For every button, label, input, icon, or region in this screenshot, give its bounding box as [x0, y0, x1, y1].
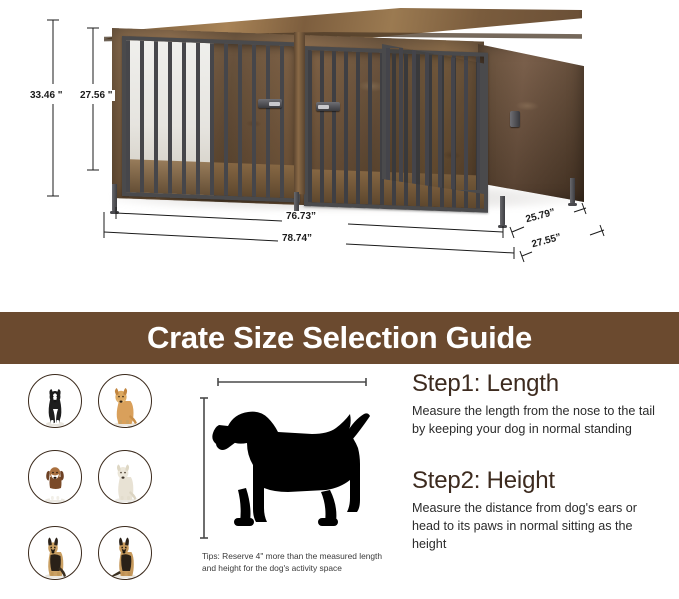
height-measure-bar [200, 396, 208, 540]
side-door-latch-icon [510, 111, 520, 127]
product-dimension-section: 33.46 " 27.56 " 76.73” 78.74” 25.79” 27.… [0, 0, 679, 312]
crate-leg-front-left [112, 184, 117, 212]
german-shepherd-2-photo [109, 537, 141, 579]
dog-measurement-diagram: Tips: Reserve 4" more than the measured … [196, 370, 392, 596]
step-1-title: Step1: Length [412, 370, 668, 398]
breed-circle-german-shepherd-1 [28, 526, 82, 580]
measurement-steps: Step1: Length Measure the length from th… [412, 370, 668, 553]
dimension-width-inner: 76.73” [284, 211, 318, 222]
step-2-body: Measure the distance from dog's ears or … [412, 499, 668, 554]
measurement-tips-text: Tips: Reserve 4" more than the measured … [202, 550, 392, 574]
breed-circle-labrador-cream [98, 450, 152, 504]
dimension-depth-outer: 27.55” [529, 231, 565, 250]
crate-body [104, 8, 582, 208]
left-kennel-bars [126, 40, 296, 198]
left-door-latch-icon [258, 99, 282, 108]
side-kennel-bars [386, 48, 480, 190]
dimension-height-outer: 33.46 " [28, 90, 65, 101]
guide-banner: Crate Size Selection Guide [0, 312, 679, 364]
dimension-width-outer: 78.74” [280, 233, 314, 244]
crate-side-kennel [382, 44, 484, 194]
dimension-height-inner: 27.56 " [78, 90, 115, 101]
crate-product-image: 33.46 " 27.56 " 76.73” 78.74” 25.79” 27.… [0, 0, 679, 312]
crate-side-panel [478, 44, 584, 202]
step-2-title: Step2: Height [412, 467, 668, 495]
breed-circle-border-collie [28, 374, 82, 428]
step-2: Step2: Height Measure the distance from … [412, 467, 668, 554]
breed-circle-beagle [28, 450, 82, 504]
crate-leg-front-right [500, 196, 505, 226]
labrador-cream-photo [109, 463, 141, 503]
dog-side-silhouette-icon [210, 392, 382, 542]
step-1-body: Measure the length from the nose to the … [412, 402, 668, 439]
crate-size-guide-section: Tips: Reserve 4" more than the measured … [0, 364, 679, 599]
crate-center-divider [294, 32, 305, 194]
golden-retriever-photo [108, 387, 142, 427]
guide-banner-title: Crate Size Selection Guide [147, 320, 532, 356]
breed-circle-golden-retriever [98, 374, 152, 428]
beagle-photo [39, 463, 71, 503]
breed-circle-german-shepherd-2 [98, 526, 152, 580]
german-shepherd-1-photo [39, 537, 71, 579]
border-collie-photo [40, 387, 70, 427]
crate-left-kennel [122, 36, 300, 203]
breed-photo-grid [28, 374, 172, 578]
crate-leg-back-right [570, 178, 575, 204]
length-measure-bar [216, 378, 368, 386]
step-1: Step1: Length Measure the length from th… [412, 370, 668, 439]
right-door-latch-icon [316, 102, 340, 111]
